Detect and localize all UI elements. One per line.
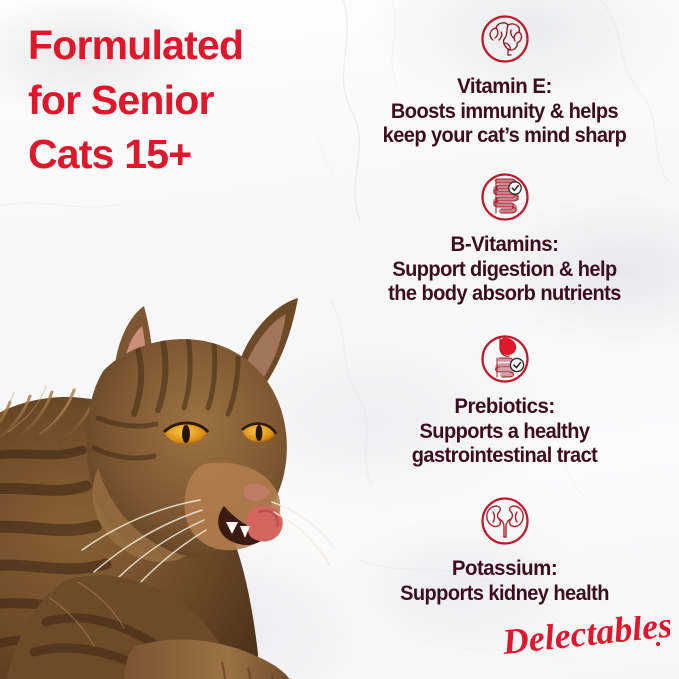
benefit-title: Prebiotics: bbox=[339, 394, 671, 419]
benefit-description: Supports a healthy gastrointestinal trac… bbox=[342, 419, 667, 468]
benefit-title: B-Vitamins: bbox=[339, 232, 671, 257]
benefit-description: Supports kidney health bbox=[342, 581, 667, 606]
benefit-item-prebiotics: Prebiotics: Supports a healthy gastroint… bbox=[330, 330, 679, 468]
delectables-logo: Delectables bbox=[500, 616, 670, 670]
cat-photo bbox=[0, 250, 336, 679]
logo-period bbox=[656, 642, 660, 646]
benefit-item-vitamin-e: Vitamin E: Boosts immunity & helps keep … bbox=[330, 10, 679, 148]
brain-icon bbox=[330, 10, 679, 70]
benefit-title: Potassium: bbox=[339, 556, 671, 581]
intestine-check-icon bbox=[330, 168, 679, 228]
benefit-description: Boosts immunity & helps keep your cat’s … bbox=[342, 99, 667, 148]
headline: Formulated for Senior Cats 15+ bbox=[28, 18, 328, 182]
cat-illustration bbox=[0, 250, 336, 679]
benefit-item-potassium: Potassium: Supports kidney health bbox=[330, 492, 679, 605]
benefits-column: Vitamin E: Boosts immunity & helps keep … bbox=[330, 0, 679, 679]
logo-wordmark: Delectables bbox=[500, 616, 670, 662]
kidneys-icon bbox=[330, 492, 679, 552]
stomach-intestine-check-icon bbox=[330, 330, 679, 390]
benefit-title: Vitamin E: bbox=[339, 74, 671, 99]
product-infographic: Formulated for Senior Cats 15+ bbox=[0, 0, 679, 679]
benefit-item-b-vitamins: B-Vitamins: Support digestion & help the… bbox=[330, 168, 679, 306]
benefit-description: Support digestion & help the body absorb… bbox=[342, 257, 667, 306]
